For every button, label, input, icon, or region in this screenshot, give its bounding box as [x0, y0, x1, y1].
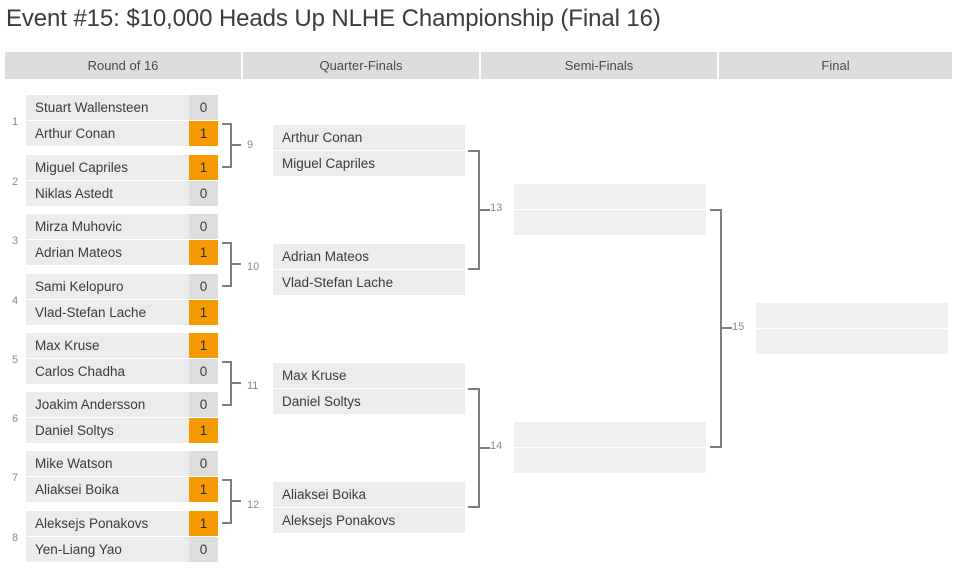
match-number-3: 3 — [12, 235, 18, 247]
match-slot[interactable] — [514, 184, 706, 209]
player-name: Aleksejs Ponakovs — [273, 508, 465, 533]
match-number-10: 10 — [247, 261, 259, 273]
player-score: 0 — [189, 392, 218, 417]
player-score: 0 — [189, 95, 218, 120]
match-slot[interactable]: Yen-Liang Yao 0 — [26, 537, 218, 562]
match-number-5: 5 — [12, 354, 18, 366]
match-slot[interactable]: Aleksejs Ponakovs — [273, 508, 465, 533]
match-number-8: 8 — [12, 532, 18, 544]
player-name — [756, 303, 948, 328]
player-score: 0 — [189, 181, 218, 206]
match-slot[interactable]: Arthur Conan 1 — [26, 121, 218, 146]
match-slot[interactable]: Miguel Capriles 1 — [26, 155, 218, 180]
connector-stub-10 — [232, 263, 241, 265]
match-slot[interactable]: Niklas Astedt 0 — [26, 181, 218, 206]
player-name: Aliaksei Boika — [273, 482, 465, 507]
match-slot[interactable] — [514, 422, 706, 447]
page-title: Event #15: $10,000 Heads Up NLHE Champio… — [6, 2, 661, 36]
connector-r16-to-qf-9 — [222, 123, 232, 168]
match-slot[interactable]: Sami Kelopuro 0 — [26, 274, 218, 299]
player-score: 0 — [189, 537, 218, 562]
match-slot[interactable]: Mirza Muhovic 0 — [26, 214, 218, 239]
round-header-final: Final — [719, 52, 952, 79]
match-slot[interactable]: Daniel Soltys — [273, 389, 465, 414]
connector-stub-14 — [480, 447, 490, 449]
player-score: 1 — [189, 333, 218, 358]
player-name: Adrian Mateos — [26, 240, 189, 265]
connector-stub-13 — [480, 209, 490, 211]
tournament-bracket: Event #15: $10,000 Heads Up NLHE Champio… — [0, 0, 978, 571]
match-slot[interactable]: Max Kruse 1 — [26, 333, 218, 358]
player-name: Miguel Capriles — [273, 151, 465, 176]
round-header-round-of-16: Round of 16 — [5, 52, 241, 79]
connector-qf-to-sf-13 — [468, 150, 480, 270]
match-slot[interactable] — [756, 303, 948, 328]
player-name: Stuart Wallensteen — [26, 95, 189, 120]
match-slot[interactable]: Vlad-Stefan Lache 1 — [26, 300, 218, 325]
player-name — [514, 210, 706, 235]
match-slot[interactable]: Adrian Mateos 1 — [26, 240, 218, 265]
match-slot[interactable]: Aliaksei Boika — [273, 482, 465, 507]
connector-qf-to-sf-14 — [468, 388, 480, 508]
connector-r16-to-qf-11 — [222, 361, 232, 406]
connector-sf-to-final-15 — [710, 209, 722, 448]
player-score: 1 — [189, 121, 218, 146]
player-name: Joakim Andersson — [26, 392, 189, 417]
player-name — [756, 329, 948, 354]
connector-stub-15 — [722, 327, 732, 329]
match-slot[interactable]: Mike Watson 0 — [26, 451, 218, 476]
round-header-semi-finals: Semi-Finals — [481, 52, 717, 79]
match-number-12: 12 — [247, 499, 259, 511]
player-name: Daniel Soltys — [273, 389, 465, 414]
match-slot[interactable]: Vlad-Stefan Lache — [273, 270, 465, 295]
connector-r16-to-qf-12 — [222, 479, 232, 524]
player-name: Arthur Conan — [273, 125, 465, 150]
player-score: 0 — [189, 274, 218, 299]
player-name: Carlos Chadha — [26, 359, 189, 384]
player-name — [514, 184, 706, 209]
player-score: 1 — [189, 240, 218, 265]
player-score: 0 — [189, 451, 218, 476]
player-name: Sami Kelopuro — [26, 274, 189, 299]
player-name: Aleksejs Ponakovs — [26, 511, 189, 536]
player-score: 1 — [189, 300, 218, 325]
match-slot[interactable]: Adrian Mateos — [273, 244, 465, 269]
match-number-13: 13 — [490, 202, 502, 214]
match-slot[interactable] — [514, 448, 706, 473]
player-name: Mirza Muhovic — [26, 214, 189, 239]
player-score: 1 — [189, 477, 218, 502]
match-number-7: 7 — [12, 472, 18, 484]
match-slot[interactable]: Joakim Andersson 0 — [26, 392, 218, 417]
match-slot[interactable] — [756, 329, 948, 354]
player-name: Max Kruse — [26, 333, 189, 358]
match-slot[interactable]: Aleksejs Ponakovs 1 — [26, 511, 218, 536]
player-name: Miguel Capriles — [26, 155, 189, 180]
match-slot[interactable]: Stuart Wallensteen 0 — [26, 95, 218, 120]
player-score: 0 — [189, 214, 218, 239]
match-slot[interactable]: Miguel Capriles — [273, 151, 465, 176]
match-number-1: 1 — [12, 116, 18, 128]
player-name — [514, 422, 706, 447]
match-slot[interactable]: Carlos Chadha 0 — [26, 359, 218, 384]
match-number-2: 2 — [12, 176, 18, 188]
match-number-15: 15 — [732, 321, 744, 333]
player-name: Vlad-Stefan Lache — [273, 270, 465, 295]
player-score: 1 — [189, 418, 218, 443]
player-name: Niklas Astedt — [26, 181, 189, 206]
player-score: 0 — [189, 359, 218, 384]
match-slot[interactable] — [514, 210, 706, 235]
match-number-6: 6 — [12, 413, 18, 425]
match-slot[interactable]: Arthur Conan — [273, 125, 465, 150]
round-header-bar: Round of 16 Quarter-Finals Semi-Finals F… — [5, 52, 952, 79]
player-score: 1 — [189, 511, 218, 536]
player-name: Max Kruse — [273, 363, 465, 388]
round-header-quarter-finals: Quarter-Finals — [243, 52, 479, 79]
connector-stub-9 — [232, 144, 241, 146]
player-name: Vlad-Stefan Lache — [26, 300, 189, 325]
match-number-9: 9 — [247, 139, 253, 151]
match-number-14: 14 — [490, 440, 502, 452]
match-slot[interactable]: Max Kruse — [273, 363, 465, 388]
player-score: 1 — [189, 155, 218, 180]
connector-stub-11 — [232, 382, 241, 384]
player-name: Mike Watson — [26, 451, 189, 476]
player-name: Adrian Mateos — [273, 244, 465, 269]
connector-r16-to-qf-10 — [222, 242, 232, 287]
player-name: Daniel Soltys — [26, 418, 189, 443]
player-name: Arthur Conan — [26, 121, 189, 146]
match-number-11: 11 — [247, 380, 258, 392]
connector-stub-12 — [232, 500, 241, 502]
match-slot[interactable]: Aliaksei Boika 1 — [26, 477, 218, 502]
player-name: Aliaksei Boika — [26, 477, 189, 502]
player-name: Yen-Liang Yao — [26, 537, 189, 562]
player-name — [514, 448, 706, 473]
match-number-4: 4 — [12, 295, 18, 307]
match-slot[interactable]: Daniel Soltys 1 — [26, 418, 218, 443]
